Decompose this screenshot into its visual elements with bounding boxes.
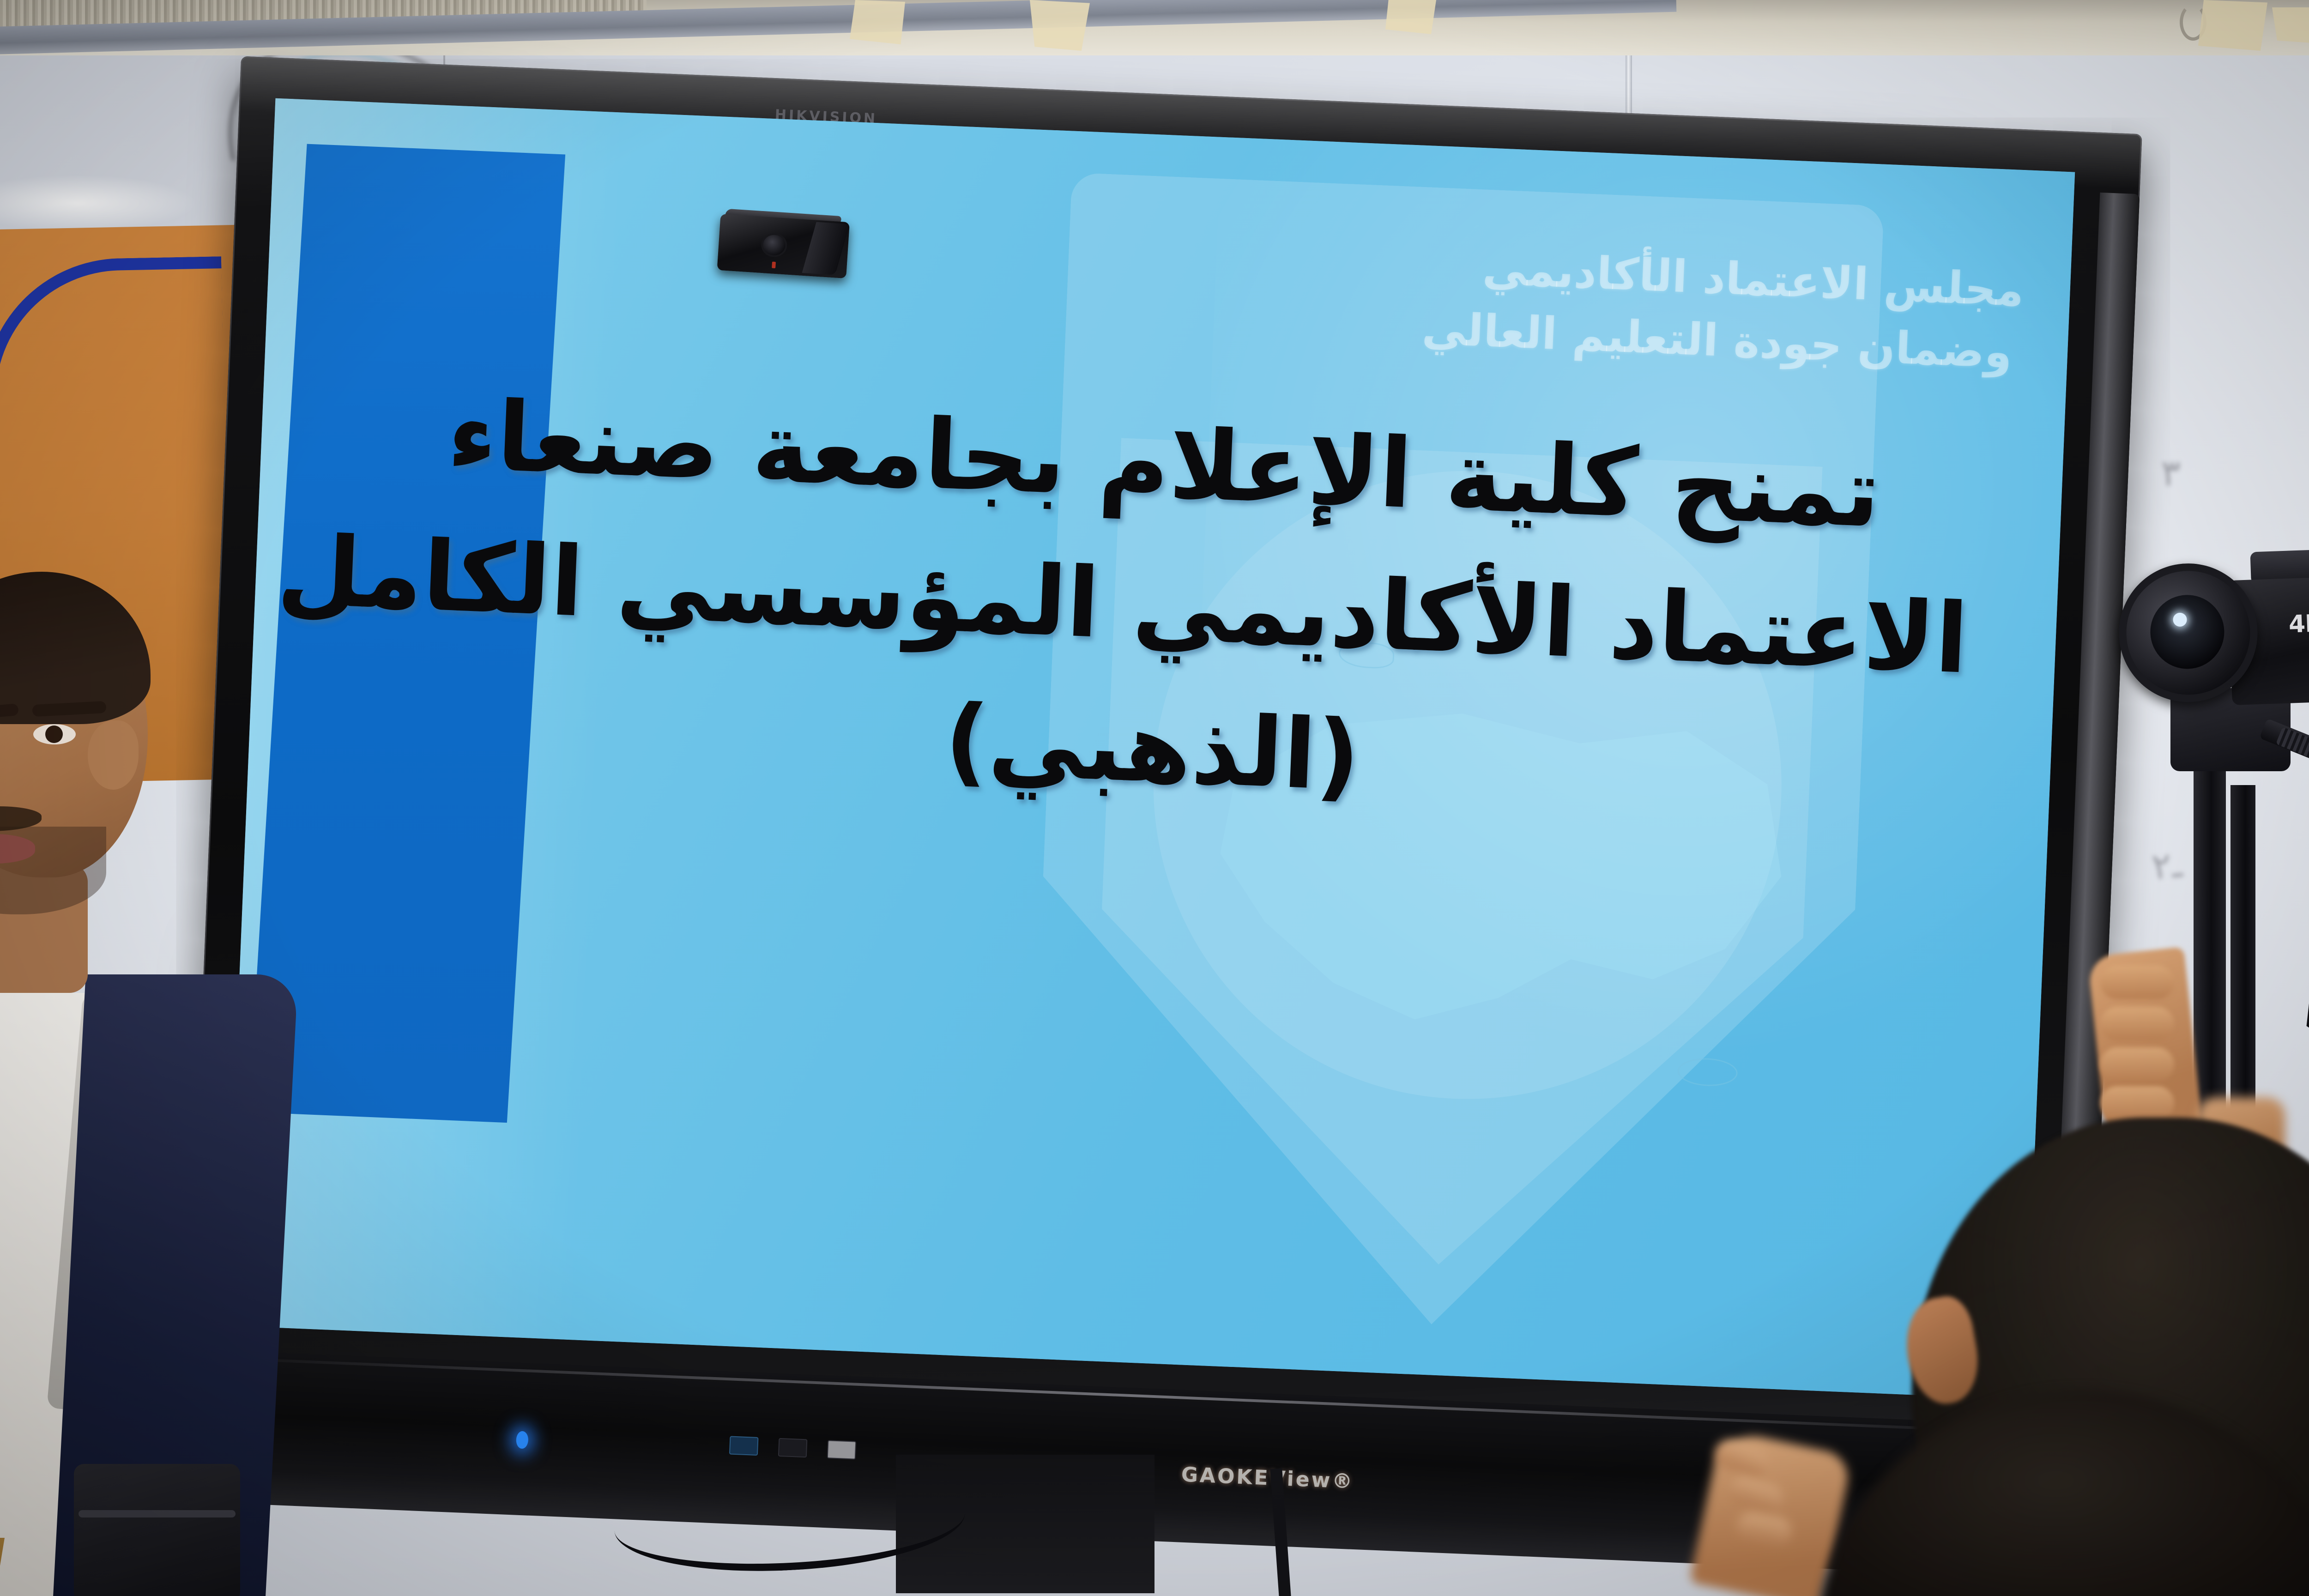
hair [0,572,151,724]
person-left [0,568,277,1596]
jambiya-dagger [0,1432,18,1596]
whiteboard-glare [0,175,194,231]
dagger-sheath [0,1538,5,1596]
finger [2100,1007,2174,1041]
webcam[interactable] [717,214,850,278]
belt-pouch [74,1464,240,1596]
tape-mark [1030,0,1090,51]
finger [2100,1047,2174,1082]
tape-mark [1385,0,1436,34]
audio-port[interactable] [778,1438,808,1458]
video-camera: 4K SONY [2111,538,2309,764]
webcam-ir-led [772,262,776,268]
tape-mark [2272,7,2309,43]
whiteboard-writing: ٣ [2161,453,2181,494]
pupil [45,725,63,743]
interactive-display[interactable]: HIKVISION مجلس الاعتماد الأكاديمي وضمان … [181,33,2143,1588]
card-slot[interactable] [827,1440,857,1460]
hdmi-port[interactable] [729,1436,759,1456]
pouch-zipper [79,1510,236,1517]
finger [2100,965,2174,999]
presentation-photo: ٣ ا ـ٢ ٥ HIKVISION [0,0,2309,1596]
slide-body-text: تمنح كلية الإعلام بجامعة صنعاء الاعتماد … [339,360,1977,853]
finger [2100,1086,2174,1120]
tape-mark [2198,0,2267,51]
display-screen[interactable]: مجلس الاعتماد الأكاديمي وضمان جودة التعل… [225,98,2075,1400]
tape-mark [850,0,905,44]
ear [88,720,139,790]
camera-resolution-badge: 4K [2288,610,2309,639]
presentation-slide: مجلس الاعتماد الأكاديمي وضمان جودة التعل… [225,98,2075,1400]
